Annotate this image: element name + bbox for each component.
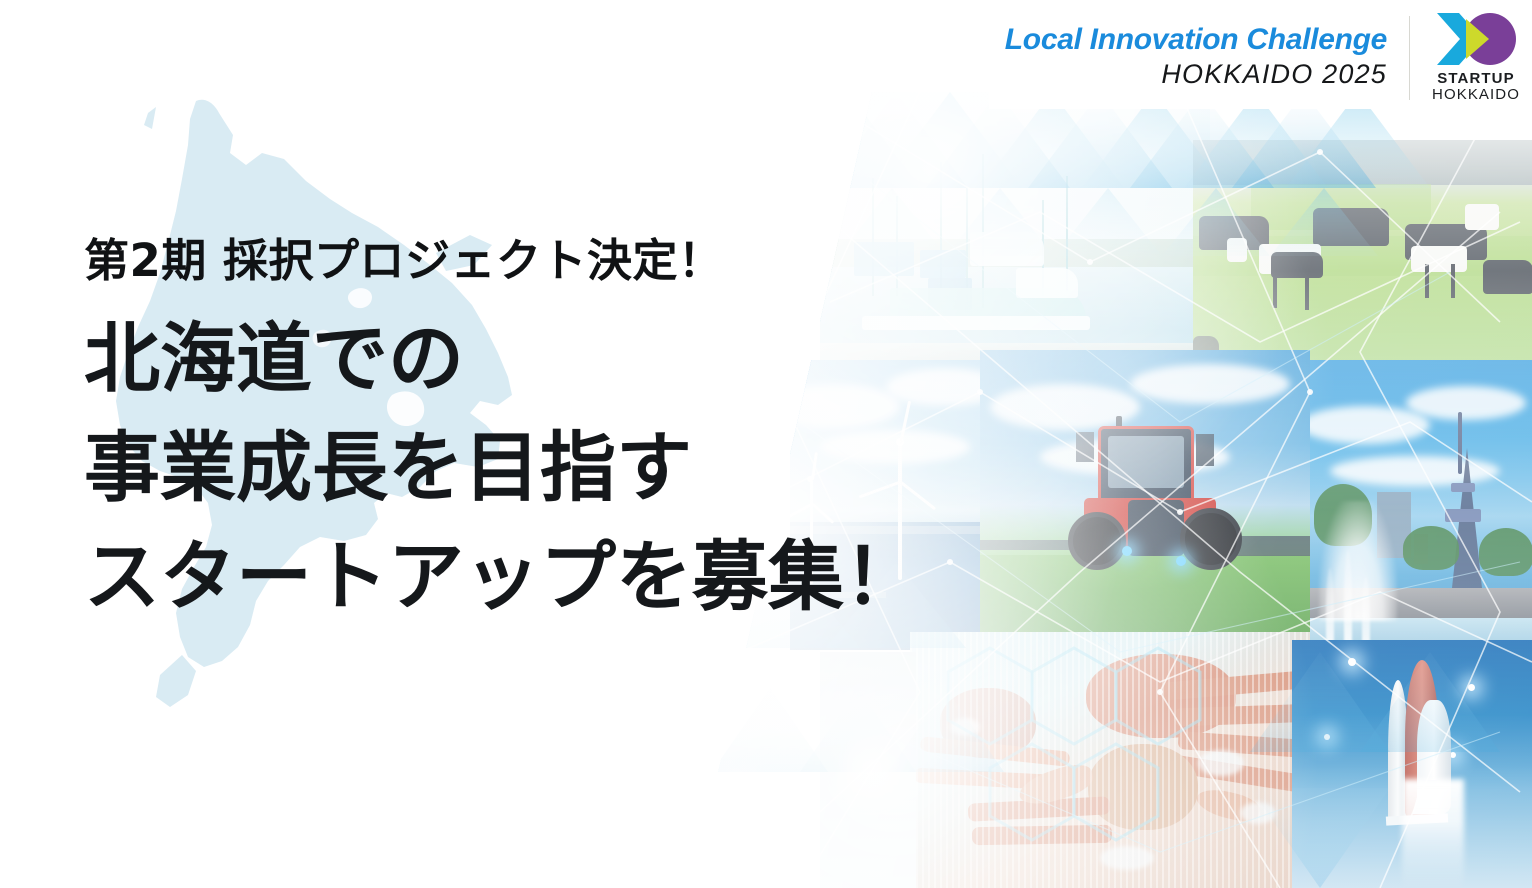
collage-edge-sliver: [820, 652, 916, 888]
program-title: Local Innovation Challenge: [1005, 24, 1387, 56]
logo-wordmark-hokkaido: HOKKAIDO: [1432, 87, 1520, 104]
tractor-field-photo: [980, 350, 1310, 660]
program-logo-lockup: Local Innovation Challenge HOKKAIDO 2025…: [989, 8, 1524, 109]
rocket-launch-photo: [1292, 640, 1532, 888]
program-subtitle: HOKKAIDO 2025: [1005, 58, 1387, 92]
headline-line-1: 北海道での: [84, 304, 920, 413]
startup-hokkaido-mark-icon: [1433, 12, 1519, 68]
snow-crab-photo: [910, 632, 1310, 888]
headline-line-3: スタートアップを募集！: [84, 522, 920, 631]
sapporo-tv-tower-photo: [1310, 360, 1532, 660]
program-title-block: Local Innovation Challenge HOKKAIDO 2025: [1005, 24, 1409, 92]
logo-wordmark-startup: STARTUP: [1437, 71, 1514, 87]
main-headline: 北海道での 事業成長を目指す スタートアップを募集！: [84, 304, 920, 632]
startup-hokkaido-logo[interactable]: STARTUP HOKKAIDO: [1432, 12, 1520, 103]
eyebrow-text: 第2期 採択プロジェクト決定！: [84, 236, 920, 286]
header-divider: [1409, 16, 1410, 100]
headline-block: 第2期 採択プロジェクト決定！ 北海道での 事業成長を目指す スタートアップを募…: [84, 236, 920, 632]
headline-line-2: 事業成長を目指す: [84, 413, 920, 522]
promo-banner: Local Innovation Challenge HOKKAIDO 2025…: [0, 0, 1532, 888]
